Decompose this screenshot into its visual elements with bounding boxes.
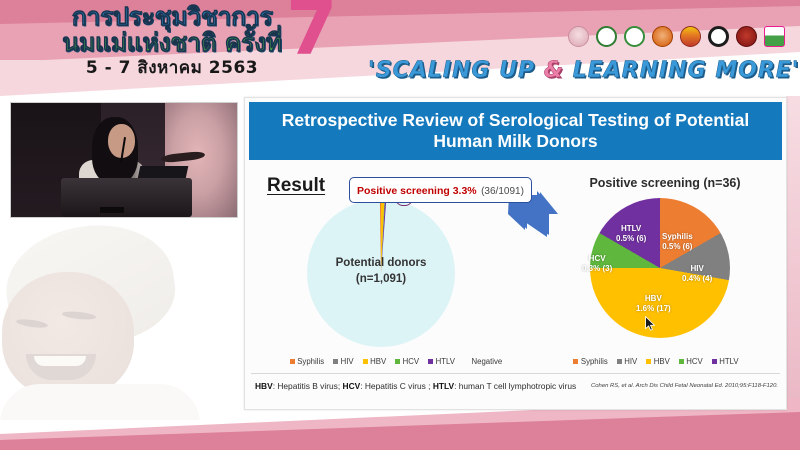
callout-main-text: Positive screening 3.3% bbox=[357, 185, 477, 197]
footer-citation: Cohen RS, et al. Arch Dis Child Fetal Ne… bbox=[591, 383, 778, 389]
conference-title-line1: การประชุมวิชาการ bbox=[22, 4, 322, 29]
sponsor-logo-strip bbox=[567, 21, 786, 52]
pie-label-hiv-value: 0.4% (4) bbox=[682, 274, 712, 283]
pie-label-syphilis: Syphilis 0.5% (6) bbox=[662, 232, 693, 253]
conference-title-block: การประชุมวิชาการ นมแม่แห่งชาติ ครั้งที่ … bbox=[22, 4, 322, 77]
legend-swatch-hbv bbox=[363, 359, 368, 364]
legend-right-item-hbv[interactable]: HBV bbox=[646, 357, 670, 366]
pie-label-hcv: HCV 0.3% (3) bbox=[582, 254, 612, 275]
presentation-screen: การประชุมวิชาการ นมแม่แห่งชาติ ครั้งที่ … bbox=[0, 0, 800, 450]
right-edge-pink-strip bbox=[786, 96, 800, 426]
green-health-logo-2 bbox=[623, 21, 646, 52]
legend-label-htlv: HTLV bbox=[719, 357, 738, 366]
legend-left-item-hiv[interactable]: HIV bbox=[333, 357, 354, 366]
conference-title-line2: นมแม่แห่งชาติ ครั้งที่ bbox=[22, 30, 322, 55]
legend-right-item-syphilis[interactable]: Syphilis bbox=[573, 357, 607, 366]
legend-swatch-syphilis bbox=[573, 359, 578, 364]
tagline-ampersand: & bbox=[544, 58, 564, 83]
legend-label-hiv: HIV bbox=[341, 357, 354, 366]
right-chart-legend: SyphilisHIVHBVHCVHTLV bbox=[537, 357, 775, 366]
legend-label-negative: Negative bbox=[471, 357, 502, 366]
legend-label-hcv: HCV bbox=[403, 357, 419, 366]
left-pie-center-line2: (n=1,091) bbox=[297, 272, 465, 288]
child-right-eye bbox=[62, 310, 97, 321]
pie-label-hcv-name: HCV bbox=[589, 254, 606, 263]
darkred-crest-logo bbox=[735, 21, 758, 52]
footer-band-dark-pink bbox=[0, 410, 800, 450]
thaihealth-sss-logo bbox=[763, 21, 786, 52]
pie-label-htlv-value: 0.5% (6) bbox=[616, 234, 646, 243]
conference-tagline: 'SCALING UP & LEARNING MORE' bbox=[368, 58, 800, 83]
legend-label-hbv: HBV bbox=[654, 357, 670, 366]
legend-left-item-negative[interactable]: Negative bbox=[464, 357, 502, 366]
legend-left-item-syphilis[interactable]: Syphilis bbox=[290, 357, 324, 366]
right-pie-title: Positive screening (n=36) bbox=[551, 176, 779, 190]
legend-right-item-htlv[interactable]: HTLV bbox=[712, 357, 739, 366]
legend-swatch-hcv bbox=[395, 359, 400, 364]
legend-left-item-htlv[interactable]: HTLV bbox=[428, 357, 455, 366]
smiling-child-watermark bbox=[0, 220, 240, 420]
legend-label-syphilis: Syphilis bbox=[297, 357, 324, 366]
podium-panel bbox=[100, 207, 124, 213]
legend-swatch-hiv bbox=[333, 359, 338, 364]
royal-emblem-logo bbox=[567, 21, 590, 52]
child-face bbox=[2, 272, 134, 398]
mouse-cursor bbox=[645, 316, 656, 331]
legend-label-hcv: HCV bbox=[686, 357, 702, 366]
pie-label-hbv-value: 1.6% (17) bbox=[636, 304, 671, 313]
legend-swatch-htlv bbox=[428, 359, 433, 364]
legend-left-item-hcv[interactable]: HCV bbox=[395, 357, 419, 366]
child-teeth bbox=[34, 356, 86, 366]
pie-label-syphilis-value: 0.5% (6) bbox=[662, 242, 692, 251]
legend-label-hbv: HBV bbox=[370, 357, 386, 366]
child-shirt bbox=[0, 384, 200, 420]
left-pie-center-label: Potential donors (n=1,091) bbox=[297, 256, 465, 287]
pie-label-hbv: HBV 1.6% (17) bbox=[636, 294, 671, 315]
slide-title: Retrospective Review of Serological Test… bbox=[249, 110, 782, 153]
callout-sub-text: (36/1091) bbox=[481, 186, 524, 197]
slide-title-bar: Retrospective Review of Serological Test… bbox=[249, 102, 782, 160]
presentation-slide: Retrospective Review of Serological Test… bbox=[244, 97, 787, 410]
legend-swatch-htlv bbox=[712, 359, 717, 364]
legend-left-item-hbv[interactable]: HBV bbox=[363, 357, 387, 366]
speaker-video-inset[interactable] bbox=[10, 102, 238, 218]
legend-swatch-hbv bbox=[646, 359, 651, 364]
legend-swatch-hiv bbox=[617, 359, 622, 364]
royal-crest-logo bbox=[679, 21, 702, 52]
pie-label-hiv: HIV 0.4% (4) bbox=[682, 264, 712, 285]
tagline-part2: LEARNING MORE' bbox=[564, 58, 800, 83]
result-heading: Result bbox=[267, 175, 325, 197]
footer-abbreviations: HBV: Hepatitis B virus; HCV: Hepatitis C… bbox=[255, 381, 576, 391]
legend-swatch-syphilis bbox=[290, 359, 295, 364]
positive-screening-callout: Positive screening 3.3% (36/1091) bbox=[349, 177, 532, 203]
pie-label-hiv-name: HIV bbox=[690, 264, 703, 273]
pie-label-htlv-name: HTLV bbox=[621, 224, 641, 233]
pie-label-hcv-value: 0.3% (3) bbox=[582, 264, 612, 273]
legend-label-htlv: HTLV bbox=[436, 357, 455, 366]
right-pie-chart: Syphilis 0.5% (6) HIV 0.4% (4) HBV 1.6% … bbox=[590, 198, 730, 338]
left-pie-center-line1: Potential donors bbox=[297, 256, 465, 272]
legend-swatch-hcv bbox=[679, 359, 684, 364]
child-hat bbox=[0, 220, 181, 355]
conference-edition-number: 7 bbox=[286, 0, 338, 66]
tagline-part1: 'SCALING UP bbox=[368, 58, 544, 83]
ministry-emblem-logo bbox=[651, 21, 674, 52]
podium bbox=[61, 178, 192, 217]
pie-label-htlv: HTLV 0.5% (6) bbox=[616, 224, 646, 245]
black-circle-logo bbox=[707, 21, 730, 52]
conference-date: 5 - 7 สิงหาคม 2563 bbox=[22, 60, 322, 77]
pie-label-hbv-name: HBV bbox=[645, 294, 662, 303]
legend-label-hiv: HIV bbox=[624, 357, 637, 366]
legend-label-syphilis: Syphilis bbox=[581, 357, 608, 366]
legend-swatch-negative bbox=[464, 359, 469, 364]
left-chart-legend: SyphilisHIVHBVHCVHTLVNegative bbox=[265, 357, 527, 366]
child-mouth bbox=[26, 354, 96, 380]
child-left-eye bbox=[16, 318, 49, 329]
footer-divider bbox=[251, 373, 780, 374]
legend-right-item-hcv[interactable]: HCV bbox=[679, 357, 703, 366]
green-health-logo-1 bbox=[595, 21, 618, 52]
legend-right-item-hiv[interactable]: HIV bbox=[617, 357, 638, 366]
pie-label-syphilis-name: Syphilis bbox=[662, 232, 693, 241]
